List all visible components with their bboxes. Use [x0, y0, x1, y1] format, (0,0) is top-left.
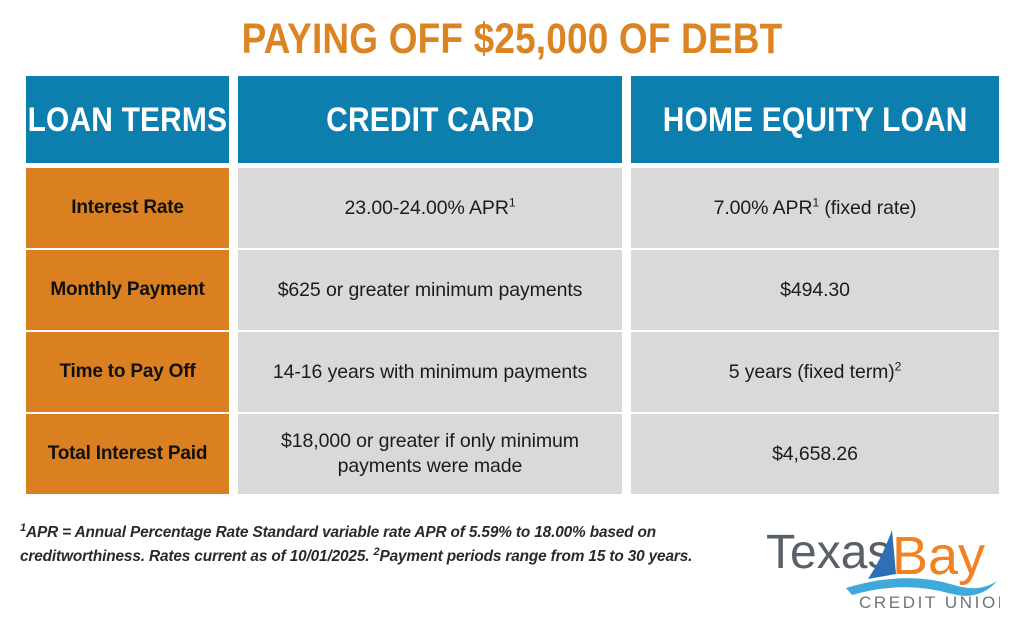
comparison-table: LOAN TERMS CREDIT CARD HOME EQUITY LOAN …	[26, 76, 999, 496]
table-row: Monthly Payment $625 or greater minimum …	[26, 250, 999, 330]
value-text: 7.00% APR1 (fixed rate)	[714, 196, 917, 221]
texas-bay-credit-union-logo: Texas Bay CREDIT UNION	[764, 516, 1000, 612]
infographic-page: PAYING OFF $25,000 OF DEBT LOAN TERMS CR…	[0, 0, 1024, 619]
table-row: Time to Pay Off 14-16 years with minimum…	[26, 332, 999, 412]
value-text: $494.30	[780, 278, 850, 303]
row-label-interest-rate: Interest Rate	[26, 168, 229, 248]
header-label-loan-terms: LOAN TERMS	[28, 102, 228, 138]
header-cell-home-equity-loan: HOME EQUITY LOAN	[631, 76, 999, 163]
logo-word-bay: Bay	[892, 526, 985, 586]
table-header-row: LOAN TERMS CREDIT CARD HOME EQUITY LOAN	[26, 76, 999, 163]
value-text: $625 or greater minimum payments	[278, 278, 583, 303]
footnote-marker: 1	[509, 195, 516, 209]
value-text: $4,658.26	[772, 442, 858, 467]
footnote-body-2: Payment periods range from 15 to 30 year…	[380, 548, 693, 565]
page-title: PAYING OFF $25,000 OF DEBT	[72, 14, 953, 64]
header-cell-loan-terms: LOAN TERMS	[26, 76, 229, 163]
value-text: 5 years (fixed term)2	[729, 360, 902, 385]
footnote-marker: 2	[895, 359, 902, 373]
header-label-home-equity-loan: HOME EQUITY LOAN	[663, 102, 968, 138]
value-text: 23.00-24.00% APR1	[345, 196, 516, 221]
value-text: 14-16 years with minimum payments	[273, 360, 587, 385]
header-label-credit-card: CREDIT CARD	[326, 102, 534, 138]
value-home-equity-monthly-payment: $494.30	[631, 250, 999, 330]
logo-tagline: CREDIT UNION	[859, 593, 1000, 612]
value-main: 7.00% APR	[714, 197, 813, 219]
header-cell-credit-card: CREDIT CARD	[238, 76, 622, 163]
value-credit-card-monthly-payment: $625 or greater minimum payments	[238, 250, 622, 330]
value-credit-card-interest-rate: 23.00-24.00% APR1	[238, 168, 622, 248]
table-row: Total Interest Paid $18,000 or greater i…	[26, 414, 999, 494]
value-suffix: (fixed rate)	[819, 197, 916, 219]
value-text: $18,000 or greater if only minimumpaymen…	[281, 429, 579, 479]
logo-graphic: Texas Bay CREDIT UNION	[764, 516, 1000, 612]
value-main: 23.00-24.00% APR	[345, 197, 509, 219]
row-label-monthly-payment: Monthly Payment	[26, 250, 229, 330]
value-home-equity-total-interest-paid: $4,658.26	[631, 414, 999, 494]
value-home-equity-time-to-pay-off: 5 years (fixed term)2	[631, 332, 999, 412]
value-main: 5 years (fixed term)	[729, 361, 895, 383]
row-label-time-to-pay-off: Time to Pay Off	[26, 332, 229, 412]
footnote-text: 1APR = Annual Percentage Rate Standard v…	[20, 521, 710, 569]
value-line-1: $18,000 or greater if only minimum	[281, 429, 579, 454]
logo-word-texas: Texas	[766, 526, 891, 579]
row-label-total-interest-paid: Total Interest Paid	[26, 414, 229, 494]
value-line-2: payments were made	[281, 454, 579, 479]
table-row: Interest Rate 23.00-24.00% APR1 7.00% AP…	[26, 168, 999, 248]
value-home-equity-interest-rate: 7.00% APR1 (fixed rate)	[631, 168, 999, 248]
value-credit-card-total-interest-paid: $18,000 or greater if only minimumpaymen…	[238, 414, 622, 494]
value-credit-card-time-to-pay-off: 14-16 years with minimum payments	[238, 332, 622, 412]
